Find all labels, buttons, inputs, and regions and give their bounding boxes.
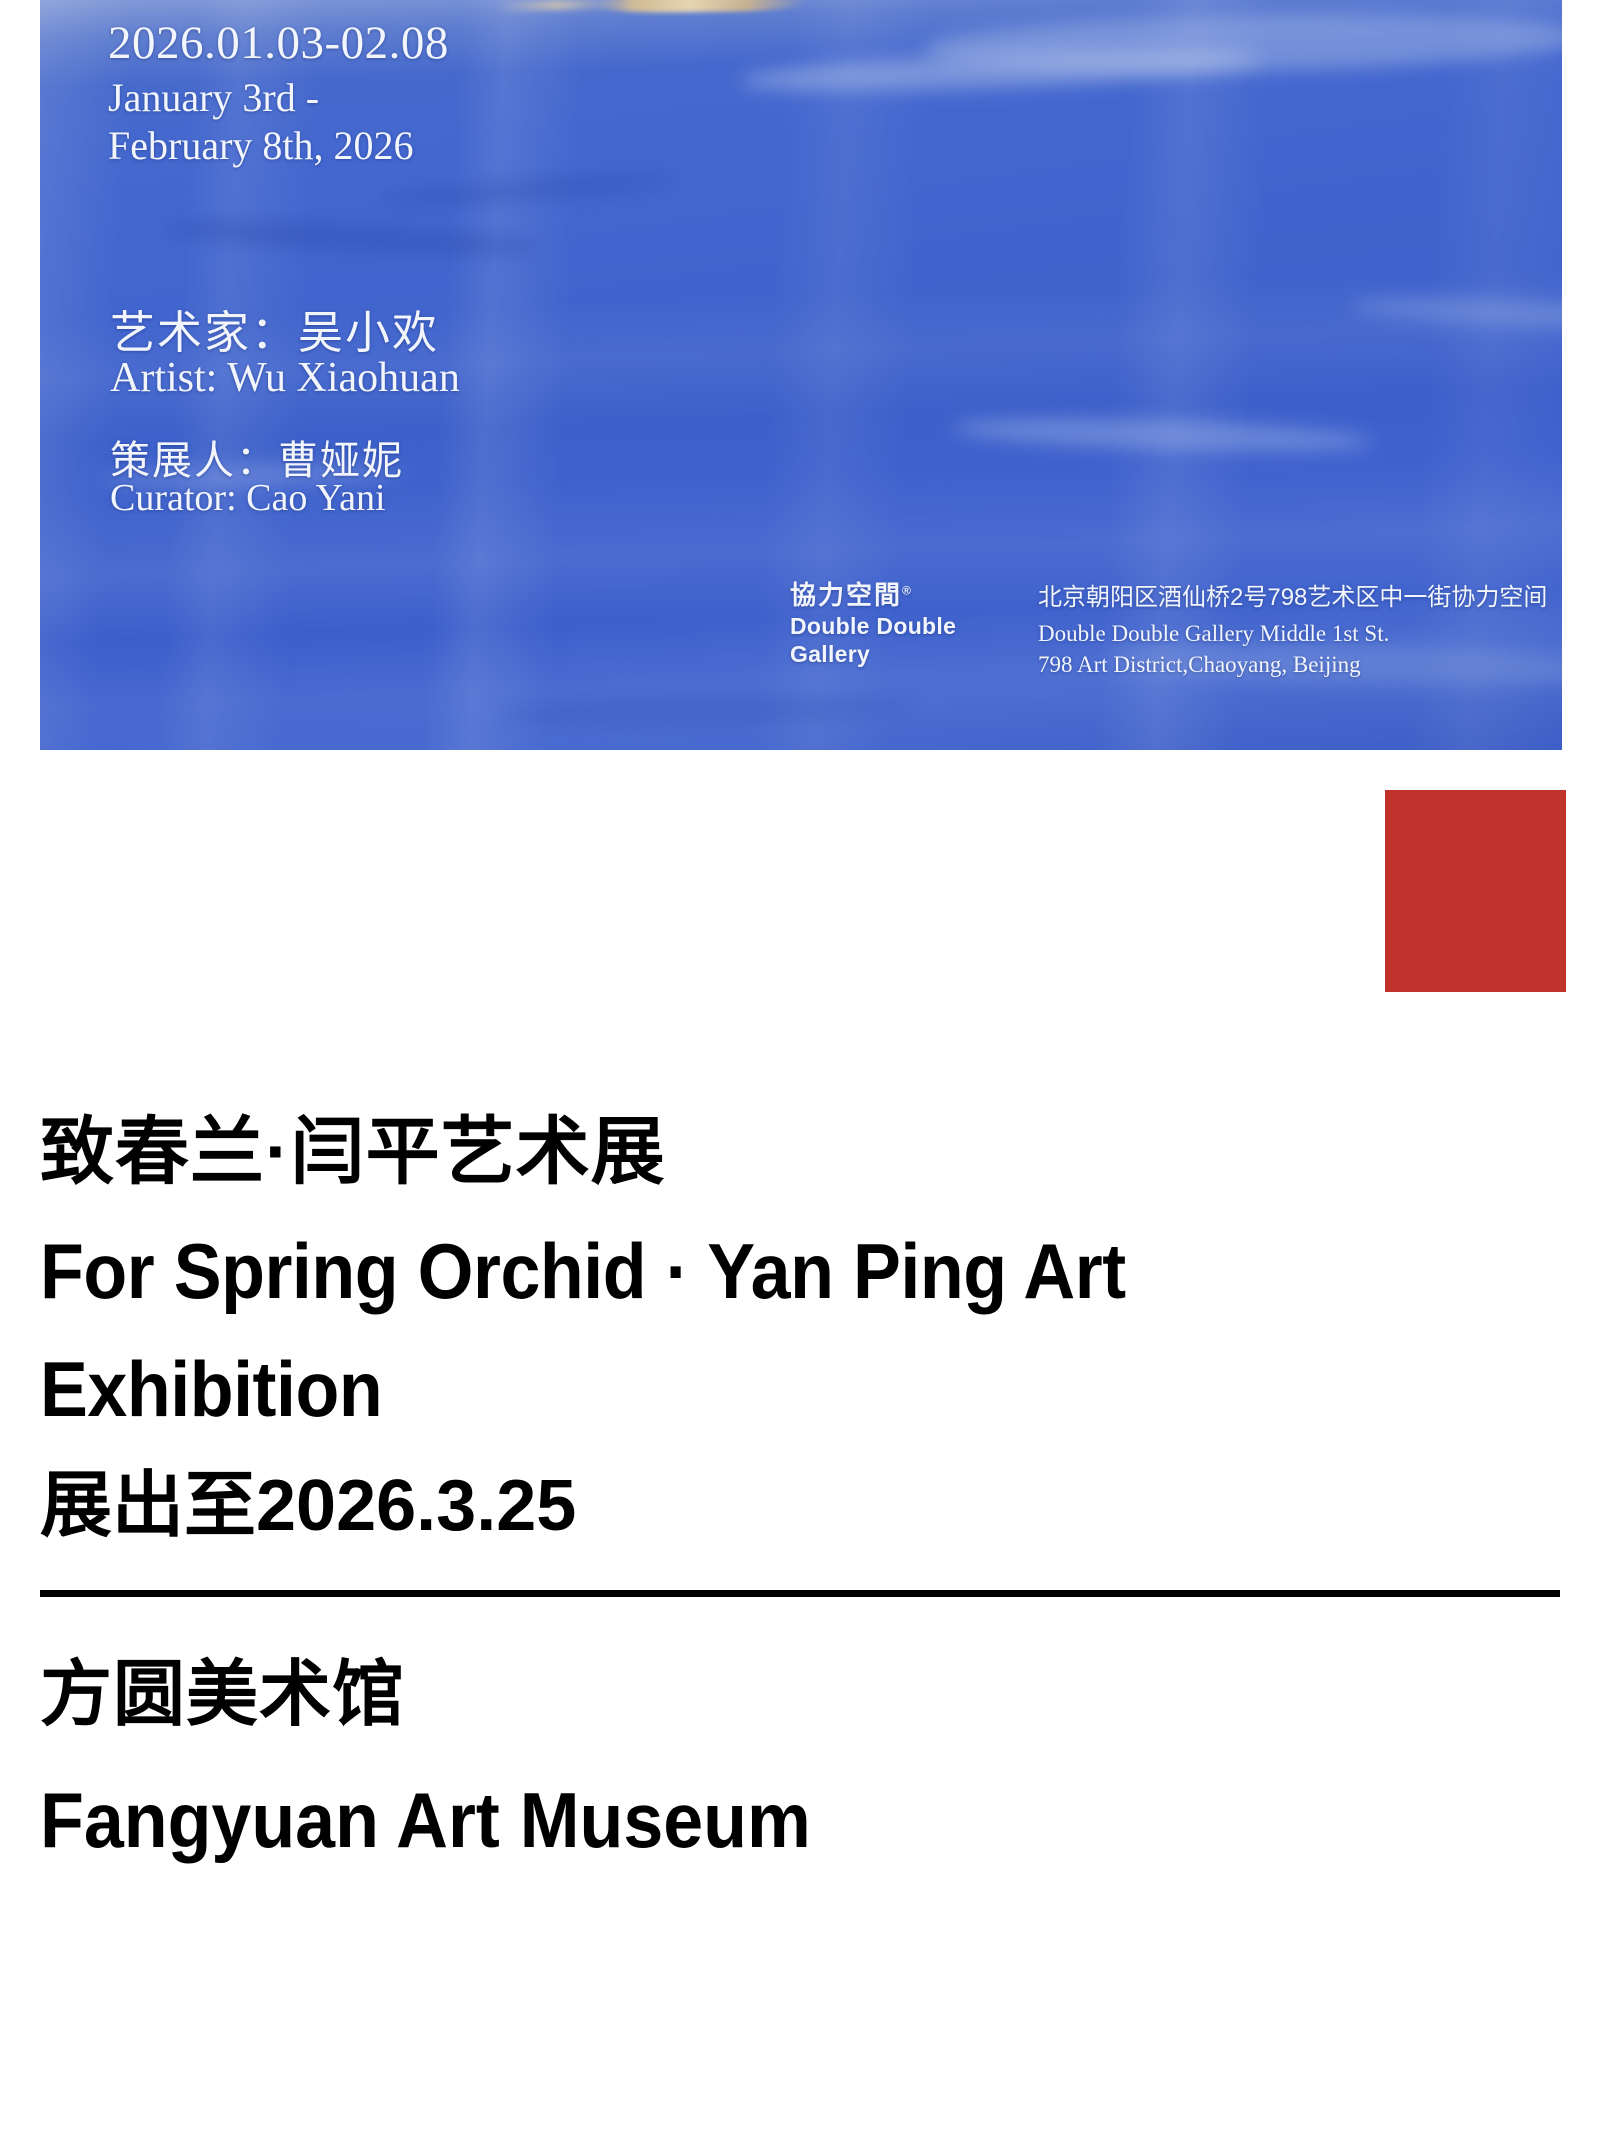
exhibition-title-en-line-2: Exhibition bbox=[40, 1330, 1440, 1449]
gallery-address-en-line-2: 798 Art District,Chaoyang, Beijing bbox=[1038, 649, 1562, 680]
gallery-logo: 協力空間® Double Double Gallery bbox=[790, 582, 1020, 668]
gallery-address-en-line-1: Double Double Gallery Middle 1st St. bbox=[1038, 618, 1562, 649]
poster-artist-en: Artist: Wu Xiaohuan bbox=[110, 354, 460, 402]
poster-text-layer: 2026.01.03-02.08 January 3rd - February … bbox=[40, 0, 1562, 750]
gallery-logo-en-line-1: Double Double bbox=[790, 612, 1020, 640]
exhibition-poster-image: 2026.01.03-02.08 January 3rd - February … bbox=[40, 0, 1562, 750]
gallery-logo-en: Double Double Gallery bbox=[790, 612, 1020, 668]
exhibition-title-cn: 致春兰·闫平艺术展 bbox=[40, 1092, 1562, 1212]
poster-curator-en: Curator: Cao Yani bbox=[110, 476, 386, 520]
red-accent-square bbox=[1385, 790, 1566, 992]
poster-date-range: 2026.01.03-02.08 bbox=[108, 16, 449, 70]
gallery-logo-cn-wrap: 協力空間® bbox=[790, 582, 1020, 609]
section-divider bbox=[40, 1590, 1560, 1597]
gallery-logo-en-line-2: Gallery bbox=[790, 640, 1020, 668]
gallery-address: 北京朝阳区酒仙桥2号798艺术区中一街协力空间 Double Double Ga… bbox=[1038, 584, 1562, 680]
article-content: 致春兰·闫平艺术展 For Spring Orchid · Yan Ping A… bbox=[40, 1092, 1562, 1875]
gallery-logo-cn: 協力空間 bbox=[790, 580, 902, 610]
venue-name-en: Fangyuan Art Museum bbox=[40, 1765, 1440, 1876]
exhibition-dates-cn: 展出至2026.3.25 bbox=[40, 1449, 1562, 1564]
poster-artist-cn: 艺术家：吴小欢 bbox=[110, 296, 439, 361]
venue-name-cn: 方圆美术馆 bbox=[40, 1641, 1562, 1750]
poster-date-line-1: January 3rd - bbox=[108, 74, 319, 121]
gallery-address-cn: 北京朝阳区酒仙桥2号798艺术区中一街协力空间 bbox=[1038, 584, 1562, 612]
poster-date-line-2: February 8th, 2026 bbox=[108, 122, 414, 169]
registered-trademark-icon: ® bbox=[902, 583, 913, 597]
exhibition-title-en-line-1: For Spring Orchid · Yan Ping Art bbox=[40, 1212, 1440, 1331]
